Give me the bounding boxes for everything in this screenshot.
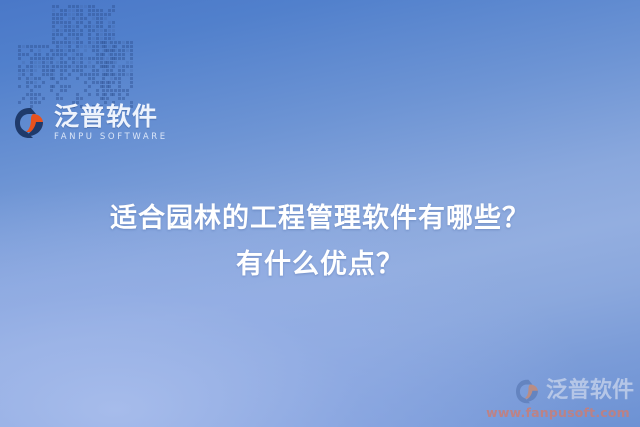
fanpu-logo-icon: [14, 107, 48, 139]
brand-logo: 泛普软件 FANPU SOFTWARE: [14, 104, 168, 141]
banner-image: 泛普软件 FANPU SOFTWARE 适合园林的工程管理软件有哪些？ 有什么优…: [0, 0, 640, 427]
fanpu-logo-icon: [515, 379, 542, 404]
pixel-buildings-icon: [18, 22, 130, 108]
watermark-brand-name: 泛普软件: [546, 380, 634, 402]
watermark-url: www.fanpusoft.com: [482, 407, 634, 420]
pixel-building-left: [18, 45, 53, 108]
brand-name-en: FANPU SOFTWARE: [54, 133, 168, 142]
watermark: 泛普软件 www.fanpusoft.com: [482, 379, 634, 420]
page-title: 适合园林的工程管理软件有哪些？ 有什么优点？: [0, 196, 640, 288]
pixel-building-right: [102, 41, 133, 108]
page-title-line1: 适合园林的工程管理软件有哪些？: [0, 196, 640, 242]
page-title-line2: 有什么优点？: [0, 242, 640, 288]
brand-name-cn: 泛普软件: [54, 104, 168, 130]
watermark-brand-row: 泛普软件: [482, 379, 634, 404]
